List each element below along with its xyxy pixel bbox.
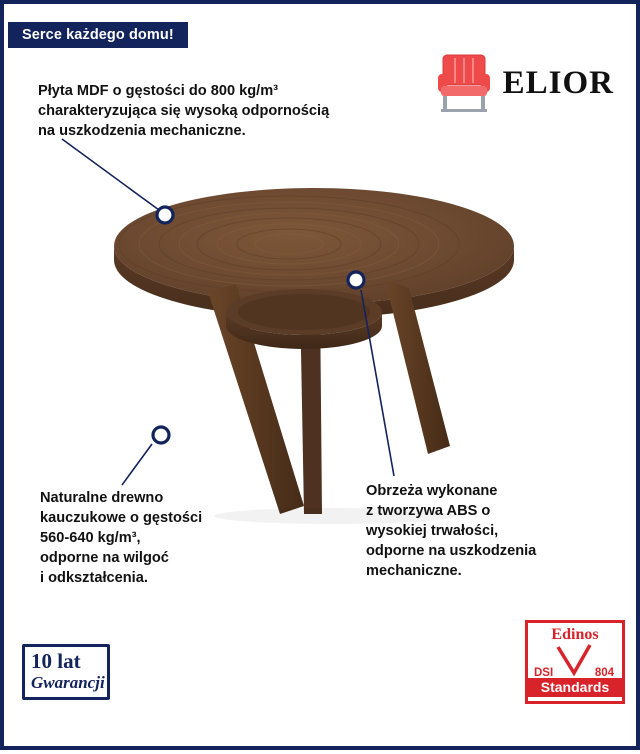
edinos-badge: Edinos DSI 804 Standards [525,620,625,704]
callout-abs: Obrzeża wykonane z tworzywa ABS o wysoki… [366,482,626,582]
infographic-page: Serce każdego domu! ELIOR [0,0,640,750]
armchair-icon [435,52,493,114]
edinos-title: Edinos [528,626,622,644]
warranty-label: Gwarancji [31,673,105,693]
warranty-badge: 10 lat Gwarancji [22,644,110,700]
warranty-years: 10 lat [31,649,81,674]
callout-mdf: Płyta MDF o gęstości do 800 kg/m³ charak… [38,82,438,142]
product-image [104,184,524,524]
callout-wood: Naturalne drewno kauczukowe o gęstości 5… [40,489,290,589]
header-banner: Serce każdego domu! [8,22,188,48]
brand-logo: ELIOR [435,52,614,114]
header-banner-text: Serce każdego domu! [22,27,174,43]
brand-name: ELIOR [503,65,614,102]
edinos-standards: Standards [528,678,622,697]
